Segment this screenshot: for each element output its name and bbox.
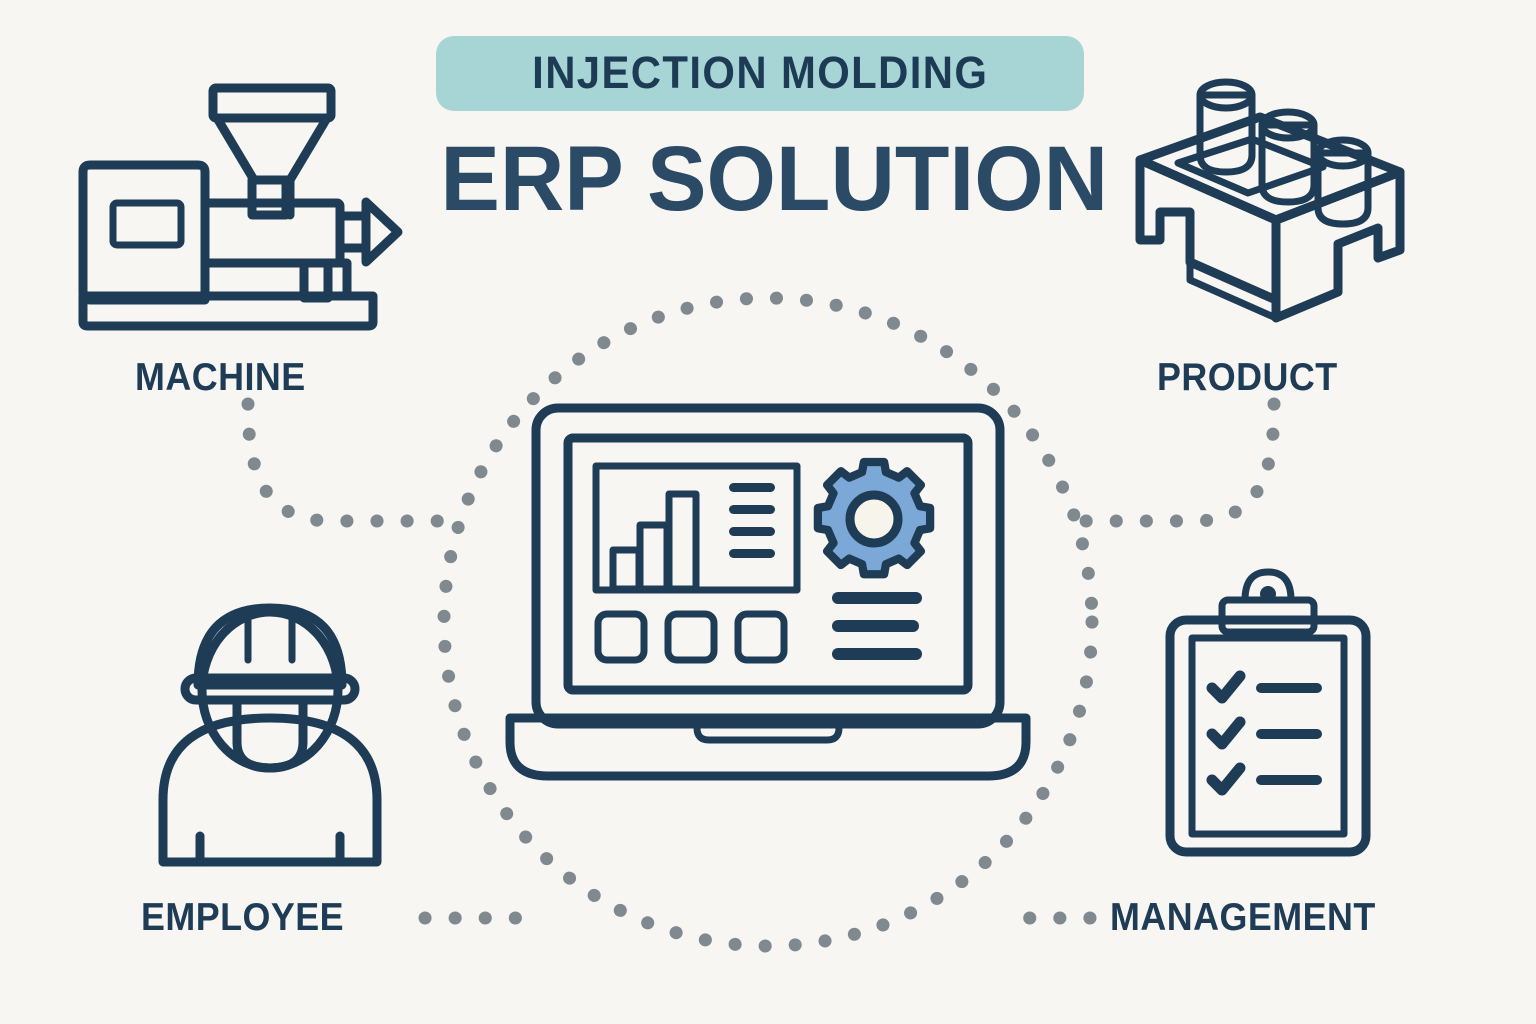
- dotted-ring: [444, 298, 1092, 946]
- tile-blue-1: [598, 614, 644, 660]
- molded-part-icon: [1140, 82, 1400, 318]
- injection-molding-machine-icon: [83, 88, 398, 326]
- infographic-canvas: INJECTION MOLDING ERP SOLUTION MACHINE P…: [0, 0, 1536, 1024]
- dashboard-text-lines: [832, 592, 922, 660]
- chart-bar-1: [613, 550, 639, 589]
- infographic-artwork: [0, 0, 1536, 1024]
- connector-machine: [248, 404, 452, 521]
- worker-hardhat-icon: [163, 608, 377, 862]
- bar-chart-panel: [596, 466, 797, 590]
- tile-orange: [668, 614, 714, 660]
- chart-bar-3: [669, 494, 696, 589]
- gear-icon: [818, 462, 930, 574]
- chart-bar-2: [640, 525, 667, 589]
- dashboard-tiles: [598, 614, 784, 660]
- connector-product: [1084, 404, 1274, 521]
- tile-blue-2: [738, 614, 784, 660]
- clipboard-checklist-icon: [1170, 572, 1366, 852]
- laptop-dashboard-icon: [510, 408, 1026, 776]
